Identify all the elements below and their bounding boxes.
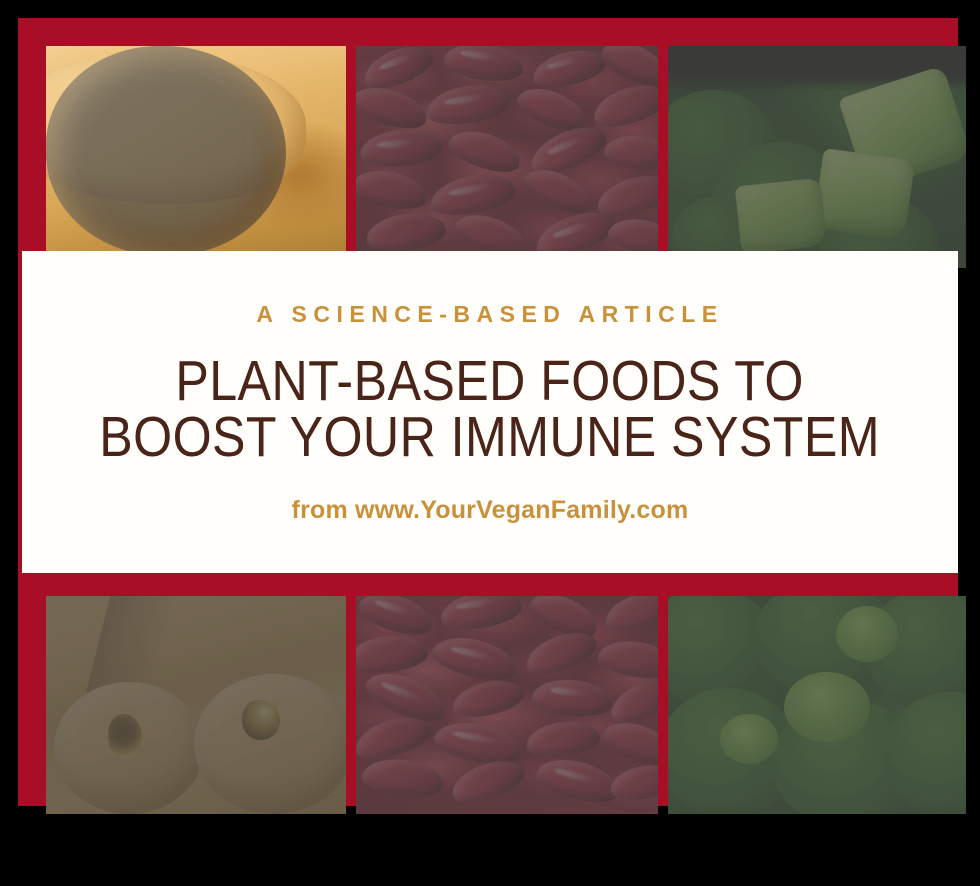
- broccoli-photo: [668, 46, 966, 268]
- poster-root: A SCIENCE-BASED ARTICLE PLANT-BASED FOOD…: [0, 0, 980, 886]
- kidney-beans-photo: [356, 596, 658, 814]
- headline-line-2: BOOST YOUR IMMUNE SYSTEM: [100, 410, 881, 466]
- headline-line-1: PLANT-BASED FOODS TO: [100, 354, 881, 410]
- butternut-squash-photo: [46, 596, 346, 814]
- collage-top-row: [46, 46, 966, 268]
- collage-bottom-row: [46, 596, 966, 814]
- source-attribution: from www.YourVeganFamily.com: [292, 496, 689, 525]
- title-band: A SCIENCE-BASED ARTICLE PLANT-BASED FOOD…: [22, 251, 958, 573]
- butternut-squash-photo: [46, 46, 346, 268]
- broccoli-photo: [668, 596, 966, 814]
- kidney-beans-photo: [356, 46, 658, 268]
- page-title: PLANT-BASED FOODS TO BOOST YOUR IMMUNE S…: [100, 354, 881, 466]
- eyebrow-label: A SCIENCE-BASED ARTICLE: [256, 301, 723, 328]
